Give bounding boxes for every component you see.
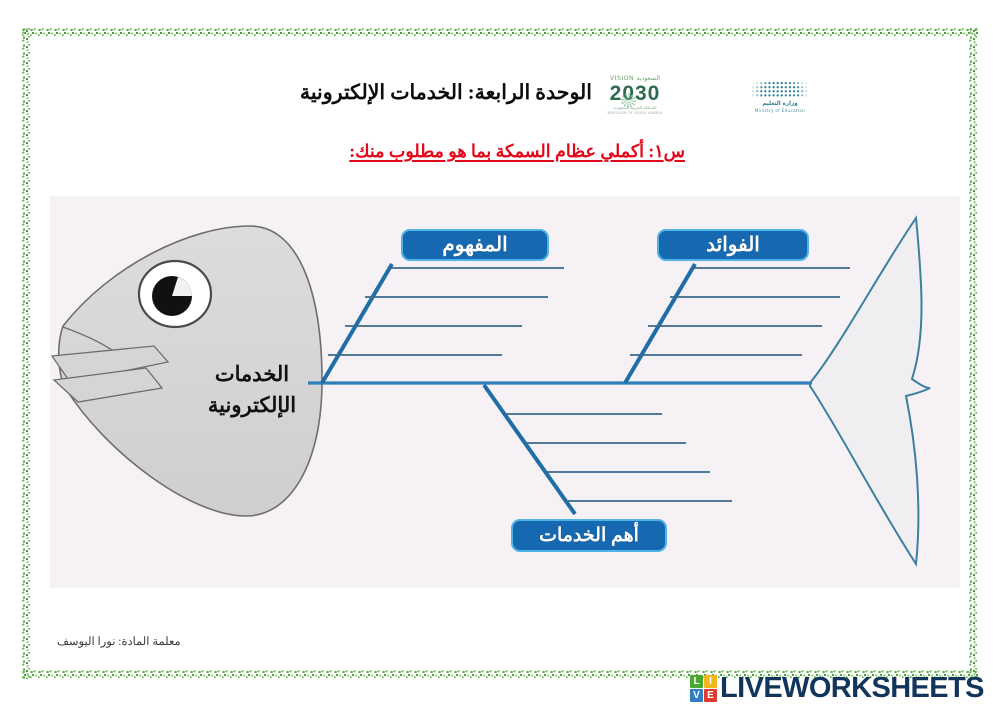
vision-logo-number: 2030: [604, 83, 666, 105]
ministry-of-education-logo: وزارة التعليم Ministry of Education: [744, 82, 816, 116]
vision-2030-logo: VISION السعودية 2030 المملكة العربية الس…: [604, 75, 666, 119]
liveworksheets-logo-blocks: L I V E: [690, 675, 717, 702]
ministry-dots-icon: [752, 82, 808, 98]
bone-diagonal-concept: [322, 264, 392, 383]
bone-label-concept[interactable]: المفهوم: [401, 229, 549, 261]
ministry-label-english: Ministry of Education: [744, 108, 816, 114]
decorative-border-right: [969, 28, 978, 679]
decorative-border-left: [22, 28, 31, 679]
fish-head-label-line1: الخدمات: [172, 359, 332, 390]
page-header: الوحدة الرابعة: الخدمات الإلكترونية VISI…: [0, 36, 1000, 96]
fishbone-diagram: الخدمات الإلكترونية المفهوم الفوائد أهم …: [50, 196, 960, 588]
vision-logo-sub-english: KINGDOM OF SAUDI ARABIA: [604, 111, 666, 116]
liveworksheets-wordmark: LIVEWORKSHEETS: [720, 673, 984, 703]
gear-icon: [621, 93, 636, 108]
fish-head-label-line2: الإلكترونية: [172, 390, 332, 421]
ministry-label-arabic: وزارة التعليم: [744, 101, 816, 108]
logo-block-v: V: [690, 689, 703, 702]
logo-block-e: E: [704, 689, 717, 702]
page-title: الوحدة الرابعة: الخدمات الإلكترونية: [300, 80, 592, 105]
fish-head-label: الخدمات الإلكترونية: [172, 359, 332, 421]
bone-diagonal-benefits: [625, 264, 695, 383]
question-text: س١: أكملي عظام السمكة بما هو مطلوب منك:: [349, 141, 685, 162]
worksheet-page: الوحدة الرابعة: الخدمات الإلكترونية VISI…: [0, 0, 1000, 707]
logo-block-i: I: [704, 675, 717, 688]
bone-label-top-services[interactable]: أهم الخدمات: [511, 519, 667, 552]
teacher-credit: معلمة المادة: نورا اليوسف: [57, 634, 181, 648]
bone-diagonal-top-services: [484, 385, 575, 514]
logo-block-l: L: [690, 675, 703, 688]
liveworksheets-watermark: L I V E LIVEWORKSHEETS: [690, 672, 984, 704]
bone-label-benefits[interactable]: الفوائد: [657, 229, 809, 261]
fish-tail-fin: [810, 218, 930, 564]
